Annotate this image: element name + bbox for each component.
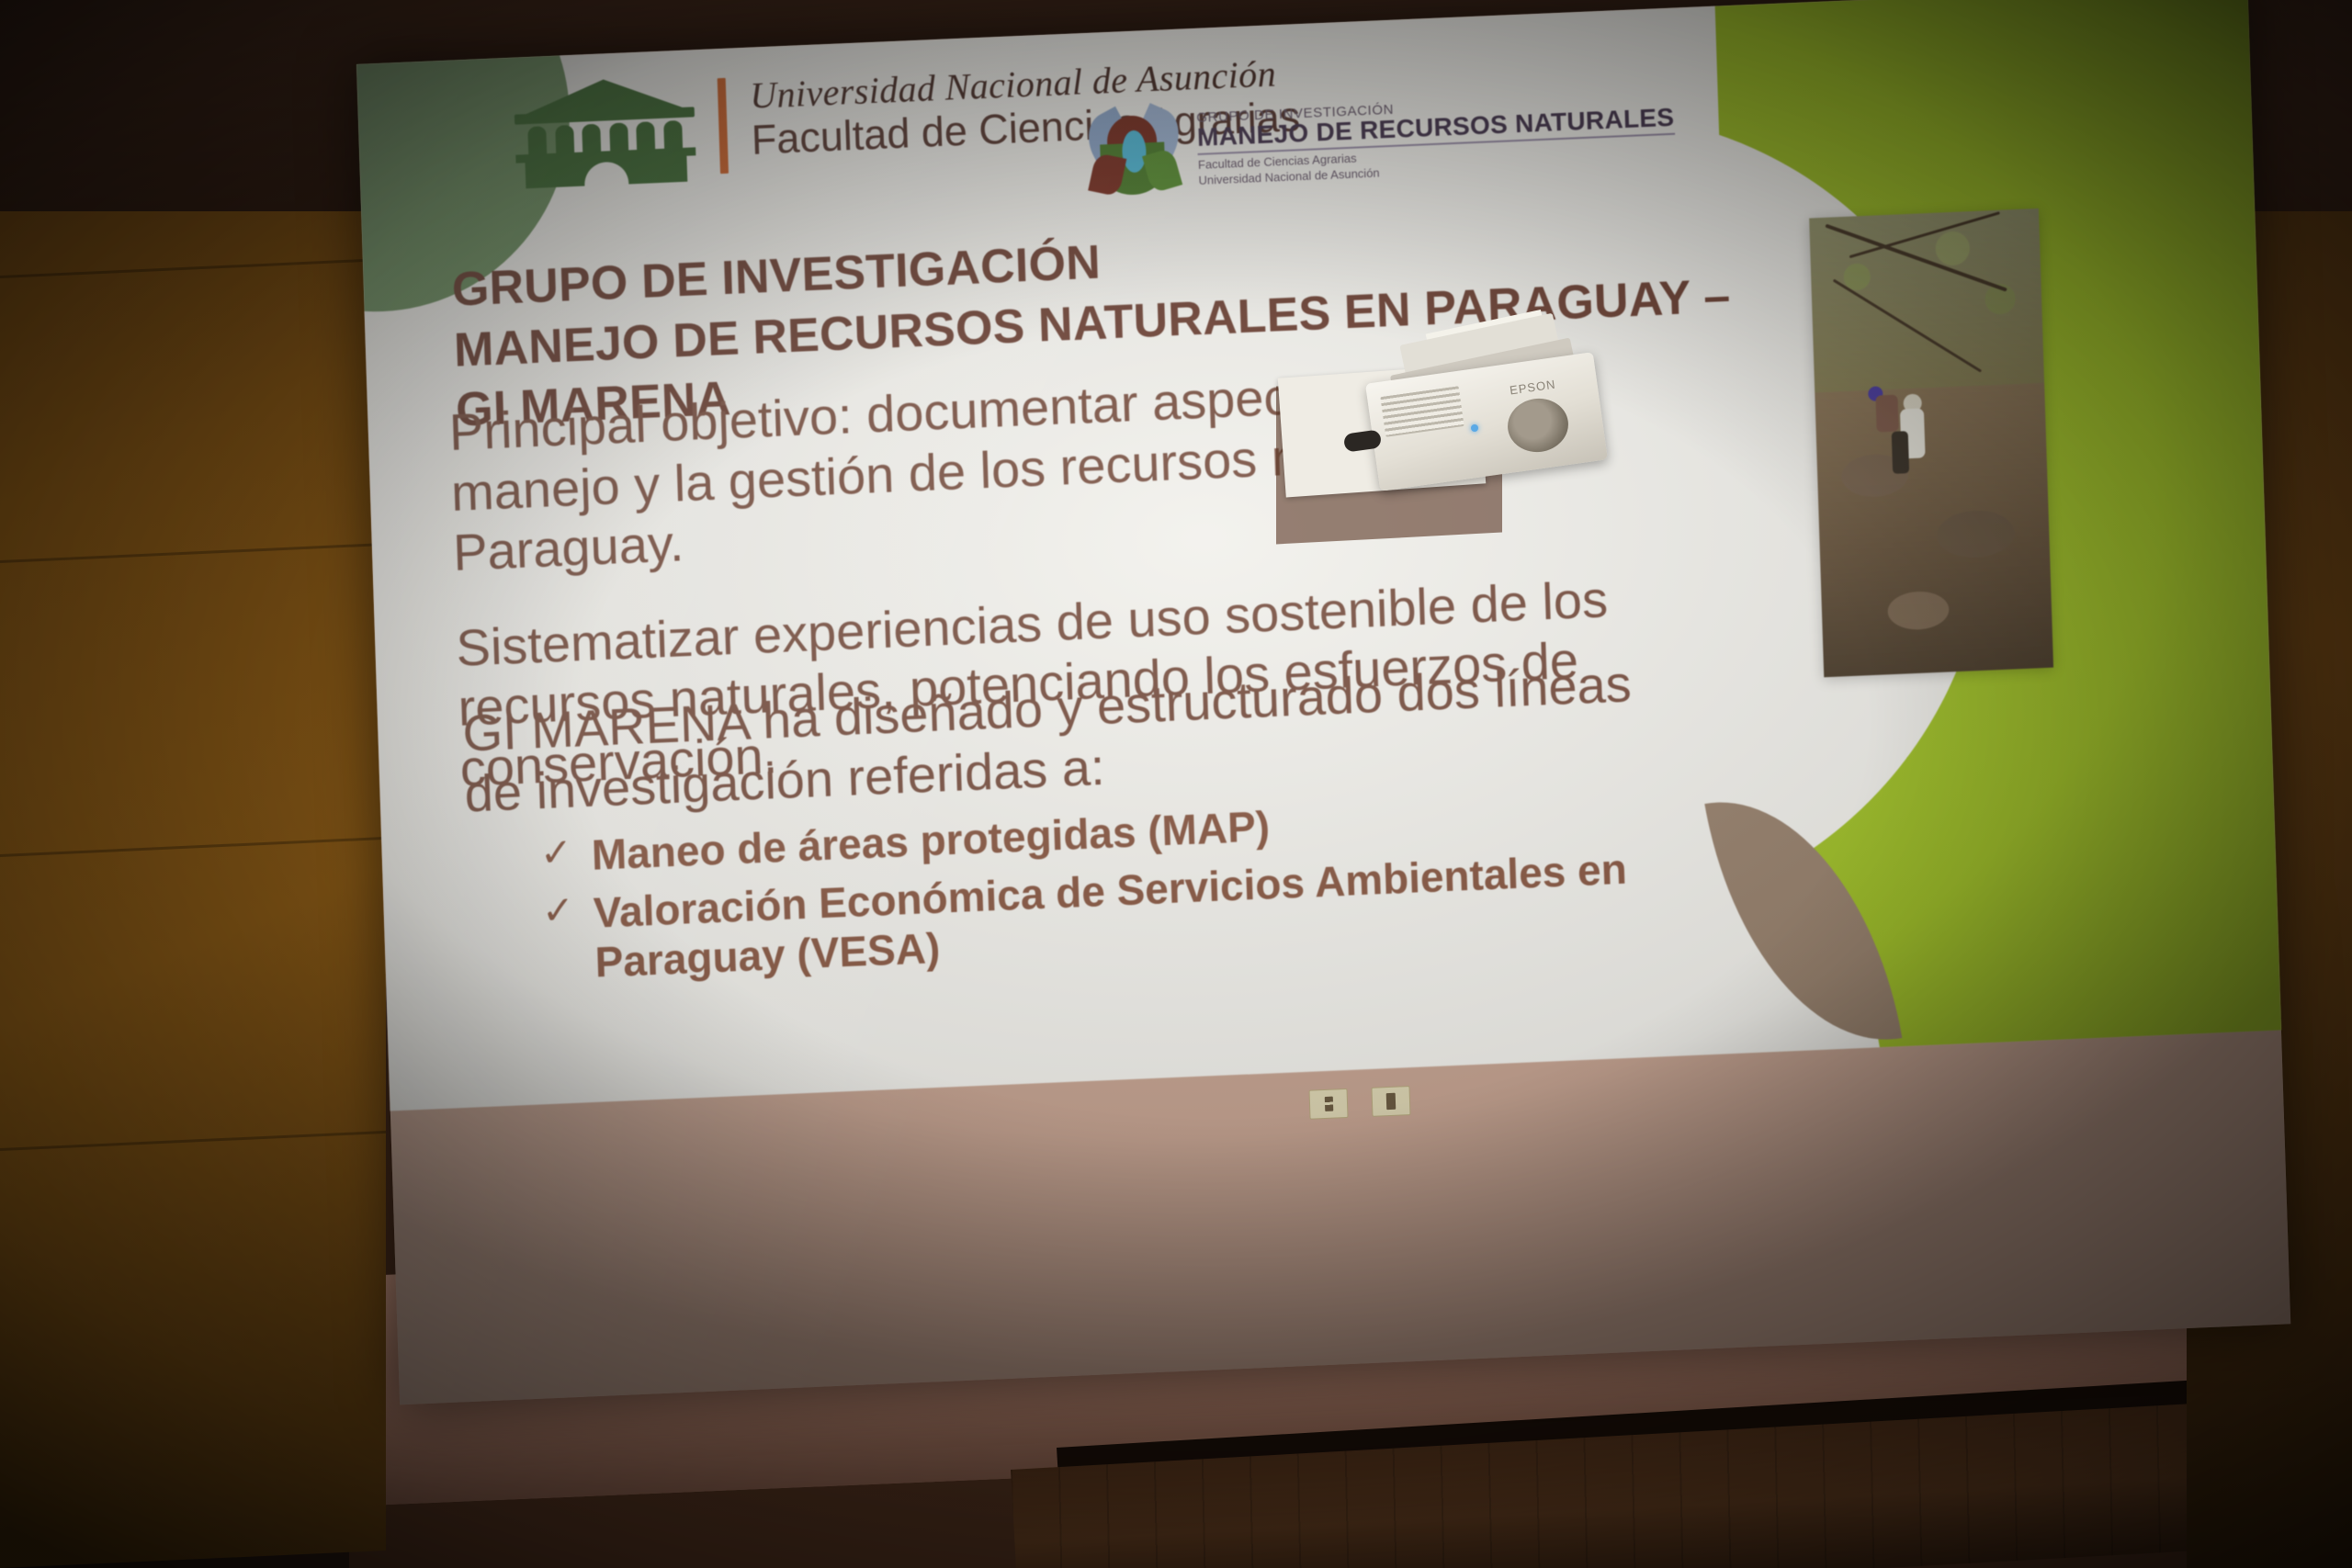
- ceiling-mounted-projector: EPSON: [1291, 323, 1603, 553]
- left-wall-panel: [0, 0, 386, 1568]
- power-outlet-plate[interactable]: [1309, 1089, 1349, 1120]
- photo-frame: Universidad Nacional de Asunción Faculta…: [0, 0, 2352, 1568]
- projection-screen: Universidad Nacional de Asunción Faculta…: [356, 0, 2290, 1404]
- projector-status-led: [1471, 424, 1478, 432]
- marena-leaf-mark-icon: [1084, 105, 1186, 201]
- check-icon: ✓: [541, 888, 575, 934]
- field-research-photo: [1809, 209, 2053, 677]
- slide-research-lines: GI MARENA ha diseñado y estructurado dos…: [462, 652, 1665, 1002]
- wall-plate-group: [1309, 1086, 1411, 1120]
- classical-building-icon: [514, 73, 697, 189]
- presentation-slide: Universidad Nacional de Asunción Faculta…: [356, 0, 2281, 1111]
- orange-divider-rule: [718, 78, 729, 174]
- light-switch-plate[interactable]: [1371, 1086, 1410, 1117]
- check-icon: ✓: [539, 830, 573, 876]
